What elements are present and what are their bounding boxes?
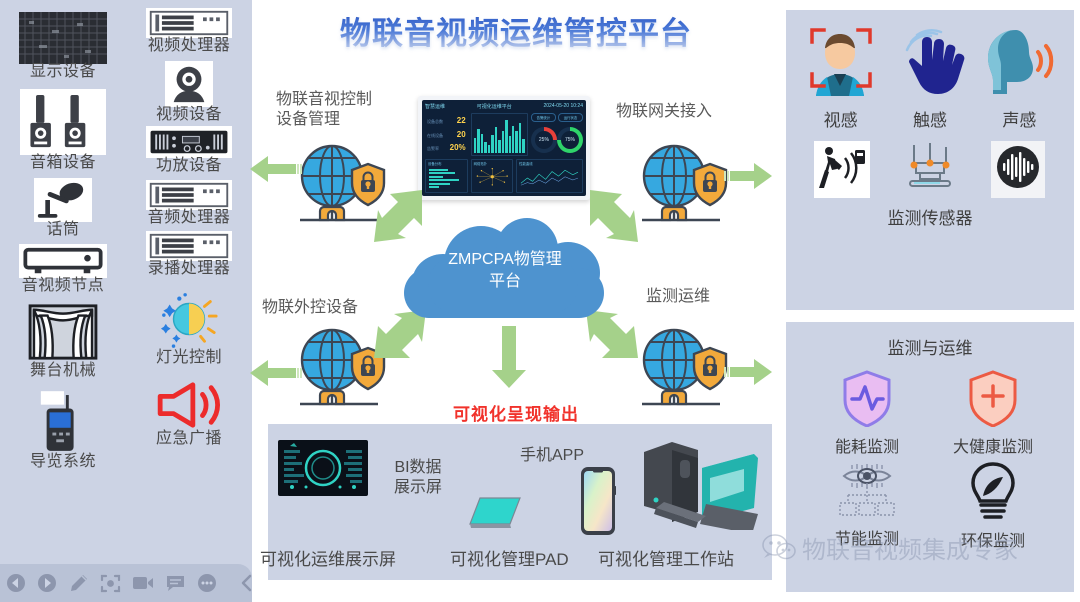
video-camera-icon[interactable] — [132, 572, 154, 594]
sense-label: 视感 — [824, 106, 858, 131]
caption-mobile-app: 手机APP — [520, 446, 584, 466]
caption-gateway-access: 物联网关接入 — [616, 102, 712, 122]
output-label-workstation: 可视化管理工作站 — [598, 545, 734, 570]
prev-icon[interactable] — [6, 572, 26, 594]
sense-grid: 视感 触感 — [786, 10, 1074, 131]
ops-item-health[interactable]: 大健康监测 — [930, 369, 1056, 457]
device-item-recorder[interactable]: 录播处理器 — [146, 231, 232, 278]
dashboard-header-left: 智慧运维 — [425, 103, 445, 110]
dashboard-bar-chart — [471, 113, 528, 156]
dashboard-header: 智慧运维 可视化运维平台 2024-05-20 10:24 — [425, 103, 583, 110]
gauge-alert: 25% — [531, 127, 557, 153]
device-label: 功放设备 — [156, 158, 222, 175]
device-item-microphone[interactable]: 话筒 — [34, 178, 92, 239]
cloud-label: ZMPCPA物管理 平台 — [404, 216, 606, 326]
bottom-toolbar — [0, 564, 252, 602]
dashboard-cell-performance: 性能曲线 — [516, 159, 583, 193]
microphone-icon — [34, 178, 92, 222]
kpi-value: 20% — [450, 143, 466, 152]
dashboard-kpi-list: 设备总数 22 在线设备 20 告警率 20% — [425, 113, 468, 156]
kpi-value: 20 — [457, 130, 466, 139]
motion-sensor-icon — [814, 141, 870, 198]
dashboard-tag: 运行状态 — [558, 113, 583, 122]
gauge-value: 25% — [539, 137, 549, 143]
device-item-camera[interactable]: 视频设备 — [156, 61, 222, 124]
voice-head-icon — [982, 26, 1056, 98]
cloud-label-line2: 平台 — [489, 271, 521, 293]
dashboard-tags: 告警统计 运行状态 — [531, 113, 583, 122]
dashboard-monitor[interactable]: 智慧运维 可视化运维平台 2024-05-20 10:24 设备总数 22 在线… — [418, 96, 590, 200]
cloud-label-line1: ZMPCPA物管理 — [448, 249, 562, 271]
video-processor-icon — [146, 8, 232, 38]
led-screen-icon — [19, 12, 107, 64]
dashboard-gauges: 告警统计 运行状态 25% 75% — [531, 113, 583, 156]
dashboard-kpi: 设备总数 22 — [427, 116, 466, 125]
tablet-icon — [468, 496, 522, 535]
globe-monitor-ops[interactable] — [632, 322, 730, 410]
visual-output-label: 可视化呈现输出 — [252, 400, 780, 425]
ops-grid: 能耗监测 大健康监测 — [786, 359, 1074, 551]
dashboard-header-right: 2024-05-20 10:24 — [544, 103, 583, 110]
collapse-chevron-icon[interactable] — [239, 572, 255, 594]
caption-external-control: 物联外控设备 — [262, 298, 358, 318]
gauge-online: 75% — [557, 127, 583, 153]
ops-item-energy[interactable]: 能耗监测 — [804, 369, 930, 457]
multi-sensor-icon — [902, 141, 958, 198]
globe-gateway-access[interactable] — [632, 138, 730, 226]
stage-curtain-icon — [25, 301, 101, 363]
cloud-platform[interactable]: ZMPCPA物管理 平台 — [404, 216, 606, 326]
emergency-broadcast-icon — [153, 379, 225, 431]
eye-monitor-icon — [836, 461, 898, 519]
device-item-av-node[interactable]: 音视频节点 — [19, 244, 107, 295]
lighting-control-icon — [155, 288, 223, 350]
device-label: 音视频节点 — [22, 278, 105, 295]
caption-device-management: 物联音视控制 设备管理 — [276, 90, 372, 130]
amplifier-icon — [146, 126, 232, 158]
focus-icon[interactable] — [100, 572, 121, 594]
device-item-speaker[interactable]: 音箱设备 — [20, 89, 106, 172]
device-label: 应急广播 — [156, 431, 222, 448]
device-item-lighting[interactable]: 灯光控制 — [155, 288, 223, 367]
camera-icon — [165, 61, 213, 107]
arrow-right-top — [724, 160, 774, 197]
device-label: 导览系统 — [30, 454, 96, 471]
kpi-key: 告警率 — [427, 146, 439, 152]
sensor-grid — [786, 131, 1074, 198]
dashboard-cell-topology: 网络拓扑 — [471, 159, 514, 193]
device-label: 音频处理器 — [148, 210, 231, 227]
dashboard-kpi: 告警率 20% — [427, 143, 466, 152]
device-label: 录播处理器 — [148, 261, 231, 278]
sensors-label: 监测传感器 — [786, 204, 1074, 229]
device-column-right: 视频处理器 视频设备 — [126, 0, 252, 602]
hand-touch-icon — [895, 26, 965, 98]
dashboard-header-title: 可视化运维平台 — [477, 103, 512, 110]
audio-processor-icon — [146, 180, 232, 210]
recorder-processor-icon — [146, 231, 232, 261]
ops-label: 大健康监测 — [953, 433, 1033, 457]
device-item-display[interactable]: 显示设备 — [19, 12, 107, 81]
device-label: 灯光控制 — [156, 350, 222, 367]
device-item-guide[interactable]: 导览系统 — [30, 390, 96, 471]
gauge-value: 75% — [565, 137, 575, 143]
sense-item-visual[interactable]: 视感 — [796, 26, 885, 131]
ops-label: 能耗监测 — [835, 433, 899, 457]
av-node-icon — [19, 244, 107, 278]
caption-monitor-ops: 监测运维 — [646, 287, 710, 307]
health-shield-icon — [965, 369, 1021, 427]
sense-item-sound[interactable]: 声感 — [975, 26, 1064, 131]
kpi-key: 在线设备 — [427, 133, 443, 139]
dashboard-ring-row: 25% 75% — [531, 124, 583, 156]
output-label-screen: 可视化运维展示屏 — [260, 545, 396, 570]
dashboard-top-row: 设备总数 22 在线设备 20 告警率 20% — [425, 113, 583, 156]
arrow-left-top — [248, 152, 302, 191]
caption-bi-screen: BI数据 展示屏 — [394, 458, 442, 498]
arrow-down-to-output — [492, 326, 526, 395]
dashboard-kpi: 在线设备 20 — [427, 130, 466, 139]
ops-panel-title: 监测与运维 — [786, 322, 1074, 359]
play-icon[interactable] — [37, 572, 57, 594]
sound-sensor-icon — [991, 141, 1045, 198]
workstation-icon — [640, 438, 760, 535]
device-label: 视频处理器 — [148, 38, 231, 55]
dashboard-tag: 告警统计 — [531, 113, 556, 122]
watermark-text: 物联音视频集成专家 — [802, 530, 1018, 565]
phone-icon — [580, 466, 616, 541]
page-title: 物联音视频运维管控平台 — [252, 8, 780, 53]
sense-panel: 视感 触感 — [786, 10, 1074, 310]
dashboard-screen: 智慧运维 可视化运维平台 2024-05-20 10:24 设备总数 22 在线… — [422, 100, 586, 196]
face-recognition-icon — [808, 26, 874, 98]
device-label: 音箱设备 — [30, 155, 96, 172]
device-rail-panel: 显示设备 音箱设备 — [0, 0, 252, 602]
sensor-item-motion[interactable] — [798, 141, 886, 198]
horizontal-bars — [429, 168, 464, 189]
device-label: 舞台机械 — [30, 363, 96, 380]
watermark: 物联音视频集成专家 — [762, 530, 1018, 565]
output-label-pad: 可视化管理PAD — [450, 545, 569, 570]
diagram-canvas: 显示设备 音箱设备 — [0, 0, 1080, 602]
dashboard-cell-distribution: 设备分布 — [425, 159, 468, 193]
dashboard-bottom-row: 设备分布 网络拓扑 — [425, 159, 583, 193]
kpi-key: 设备总数 — [427, 119, 443, 125]
device-item-amplifier[interactable]: 功放设备 — [146, 126, 232, 175]
device-item-broadcast[interactable]: 应急广播 — [153, 379, 225, 448]
bi-display-screen-icon — [278, 440, 368, 501]
arrow-right-bottom — [724, 356, 774, 393]
device-item-stage[interactable]: 舞台机械 — [25, 301, 101, 380]
device-column-left: 显示设备 音箱设备 — [0, 0, 126, 602]
energy-shield-icon — [839, 369, 895, 427]
eco-bulb-icon — [965, 461, 1021, 521]
device-label: 显示设备 — [30, 64, 96, 81]
kpi-value: 22 — [457, 116, 466, 125]
sensor-item-multi[interactable] — [886, 141, 974, 198]
output-devices-panel: BI数据 展示屏 手机APP — [268, 424, 772, 580]
sensor-item-sound[interactable] — [974, 141, 1062, 198]
sense-label: 声感 — [1002, 106, 1036, 131]
guide-device-icon — [36, 390, 90, 454]
more-icon[interactable] — [197, 572, 217, 594]
device-label: 视频设备 — [156, 107, 222, 124]
device-item-audio-processor[interactable]: 音频处理器 — [146, 180, 232, 227]
cell-title: 设备分布 — [428, 161, 442, 166]
speaker-pair-icon — [20, 89, 106, 155]
device-label: 话筒 — [46, 222, 79, 239]
arrow-left-bottom — [248, 356, 302, 395]
device-item-video-processor[interactable]: 视频处理器 — [146, 8, 232, 55]
comment-icon[interactable] — [165, 572, 186, 594]
wechat-icon — [762, 534, 796, 562]
sense-label: 触感 — [913, 106, 947, 131]
pen-icon[interactable] — [68, 572, 89, 594]
sense-item-touch[interactable]: 触感 — [885, 26, 974, 131]
